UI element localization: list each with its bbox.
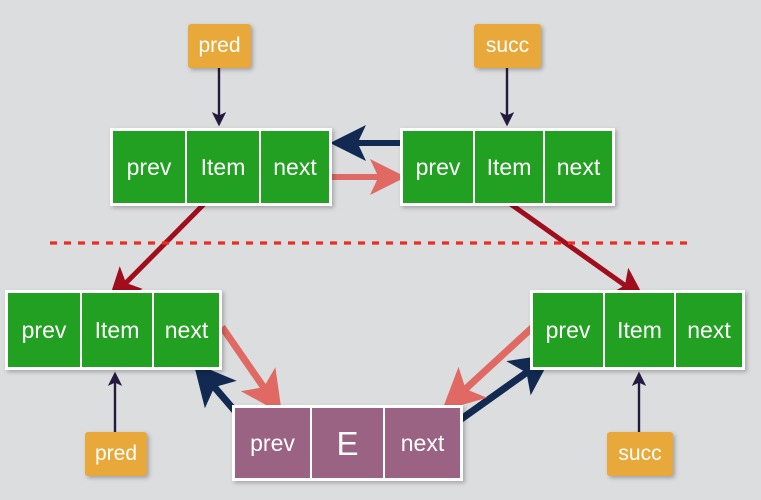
succ-node-after[interactable]: prev Item next: [530, 290, 745, 370]
cell-prev[interactable]: prev: [8, 293, 82, 367]
cell-prev[interactable]: prev: [113, 131, 187, 203]
cell-next[interactable]: next: [261, 131, 329, 203]
pointer-label-succ-top[interactable]: succ: [474, 24, 541, 68]
diagram-canvas: prev Item next prev Item next prev Item …: [0, 0, 761, 500]
pointer-label-pred-top[interactable]: pred: [188, 24, 251, 68]
pred-next-to-new-arrow: [222, 327, 278, 408]
cell-next[interactable]: next: [154, 293, 219, 367]
cell-element[interactable]: E: [312, 408, 385, 478]
cell-next[interactable]: next: [676, 293, 742, 367]
cell-prev[interactable]: prev: [403, 131, 475, 203]
pred-node-before[interactable]: prev Item next: [110, 128, 332, 206]
cell-item[interactable]: Item: [475, 131, 545, 203]
cell-item[interactable]: Item: [82, 293, 154, 367]
cell-prev[interactable]: prev: [235, 408, 312, 478]
pointer-label-pred-bottom[interactable]: pred: [85, 432, 147, 476]
pointer-label-succ-bottom[interactable]: succ: [607, 432, 673, 476]
cell-prev[interactable]: prev: [533, 293, 605, 367]
cell-item[interactable]: Item: [605, 293, 676, 367]
pred-node-transition-arrow: [113, 200, 208, 296]
cell-item[interactable]: Item: [187, 131, 261, 203]
pred-node-after[interactable]: prev Item next: [5, 290, 222, 370]
succ-node-transition-arrow: [505, 200, 640, 296]
cell-next[interactable]: next: [385, 408, 460, 478]
succ-node-before[interactable]: prev Item next: [400, 128, 615, 206]
new-element-node[interactable]: prev E next: [232, 405, 463, 481]
cell-next[interactable]: next: [545, 131, 612, 203]
